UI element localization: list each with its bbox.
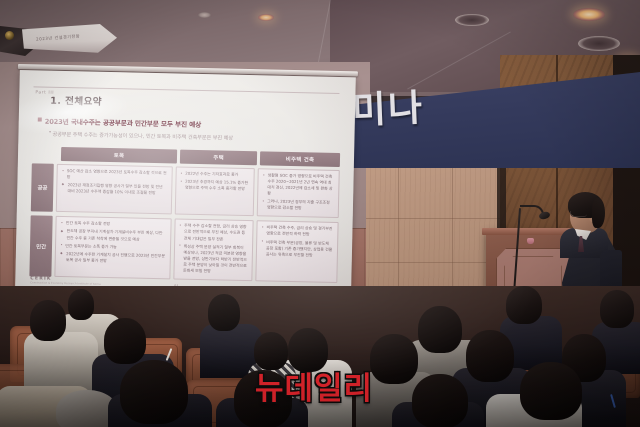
projector-lens-icon <box>5 31 14 40</box>
downlight-icon <box>455 14 489 26</box>
cell-bullet: 반도체 공장 부지내 기계설치·기계설비수주 부진 예상, 다만 민간 수주 중… <box>60 228 166 242</box>
cell-bullet: 2023년 추경까지 예상 15.1% 증가한 영향으로 주택 수주 소폭 증가… <box>180 178 250 192</box>
downlight-icon <box>198 12 211 18</box>
table-row: 공공 SOC 예산 감소 영향으로 2023년 토목수주 감소할 것으로 전망 … <box>31 163 340 218</box>
audience-member <box>24 332 98 392</box>
cell-bullet: 그러나, 2023년 정부의 지출 구조조정 영향으로 감소할 전망 <box>262 198 334 212</box>
slide-bullet-sub: 공공부문 주택 수주는 증가가능성이 있으나, 민간 토목과 비주택 건축부문은… <box>52 131 233 142</box>
audience-head <box>288 328 328 372</box>
podium-cup <box>527 238 534 244</box>
cell-bullet: 2022년 수주는 기저효과로 증가 <box>180 170 250 178</box>
travertine-joint <box>366 262 506 263</box>
audience-head <box>254 332 288 370</box>
audience-head <box>104 318 146 364</box>
screen-surface: Part III 1. 전체요약 2023년 국내수주는 공공부문과 민간부문 … <box>15 70 356 305</box>
cell-bullet: 2022년에 수주한 기계설치 공사 진행으로 2023년 민간부문 토목 공사… <box>60 251 166 265</box>
cell-bullet: 2023년 재정조기집행 영향 공사가 일부 있을 전망 및 전년 대비 202… <box>61 182 167 196</box>
downlight-icon <box>258 14 274 21</box>
downlight-icon <box>573 8 605 21</box>
table-col-header-civil: 토목 <box>61 147 177 163</box>
cell-bullet: 비주택 건축 부문(공장, 물류 및 반도체 공장 포함) 기존 증가했지만, … <box>261 239 333 259</box>
projection-screen: Part III 1. 전체요약 2023년 국내수주는 공공부문과 민간부문 … <box>13 64 358 313</box>
audience-head <box>30 300 66 341</box>
audience-head <box>418 306 462 353</box>
audience-head <box>520 362 582 420</box>
speaker-glasses-icon <box>570 211 587 217</box>
cell-bullet: 민간 토목부문는 소폭 증가 가능 <box>60 243 165 251</box>
table-cell: 비주택 건축 수주, 금리 상승 및 경기부진 영향으로 전반적 하락 전망 비… <box>255 220 338 283</box>
slide-bullet-main: 2023년 국내수주는 공공부문과 민간부문 모두 부진 예상 <box>45 116 202 129</box>
slide-footer-logo: CERIK Construction & Economy Research In… <box>30 276 101 286</box>
audience-head <box>466 330 514 382</box>
speaker-hair-back <box>592 198 605 228</box>
travertine-joint <box>366 218 506 219</box>
table-row-label-private: 민간 <box>29 216 53 277</box>
table-col-header-nonresidential: 비주택 건축 <box>260 151 340 166</box>
table-cell: 주택 수주 감소할 전망, 금리 상승 영향으로 전반적으로 부진 예상, 수도… <box>173 219 254 281</box>
cell-bullet: 특성상 주택 분양 실적기 일부 회복이 예상되나, 2023년 적금 미분양 … <box>178 243 248 275</box>
table-cell: 민간 토목 수주 감소할 전망 반도체 공장 부지내 기계설치·기계설비수주 부… <box>55 216 172 279</box>
audience-head <box>120 360 188 424</box>
cell-bullet: SOC 예산 감소 영향으로 2023년 토목수주 감소할 것으로 전망 <box>62 168 168 182</box>
slide-title: 1. 전체요약 <box>50 93 102 108</box>
slide-table: 토목 주택 비주택 건축 공공 SOC 예산 감소 영향으로 2023년 토목수… <box>29 146 340 287</box>
audience-head <box>370 334 418 384</box>
table-cell: 2022년 수주는 기저효과로 증가 2023년 추경까지 예상 15.1% 증… <box>174 166 254 216</box>
audience-head <box>68 289 94 320</box>
cell-bullet: 비주택 건축 수주, 금리 상승 및 경기부진 영향으로 전반적 하락 전망 <box>261 225 333 239</box>
seminar-photo: 2023년 건설경기전망 미나 Part III 1. 전체요약 2023년 국… <box>0 0 640 427</box>
banner-text: 미나 <box>351 89 424 129</box>
audience-head <box>208 294 240 331</box>
presentation-slide: Part III 1. 전체요약 2023년 국내수주는 공공부문과 민간부문 … <box>15 70 356 305</box>
cell-bullet: 생활형 SOC 증가 영향으로 비주택 건축수주 2020~2021년 2년 연… <box>262 172 334 198</box>
cell-bullet: 민간 토목 수주 감소할 전망 <box>61 220 166 228</box>
audience-head <box>600 290 634 328</box>
cell-bullet: 주택 수주 감소할 전망, 금리 상승 영향으로 전반적으로 부진 예상, 수도… <box>179 223 249 243</box>
ceiling-sign-text: 2023년 건설경기전망 <box>36 33 80 42</box>
table-row: 민간 민간 토목 수주 감소할 전망 반도체 공장 부지내 기계설치·기계설비수… <box>29 216 338 283</box>
table-col-header-housing: 주택 <box>180 150 257 165</box>
downlight-icon <box>578 36 620 51</box>
audience-head <box>412 374 468 427</box>
table-cell: SOC 예산 감소 영향으로 2023년 토목수주 감소할 것으로 전망 202… <box>56 163 172 214</box>
watermark-logo: 뉴데일리 <box>255 374 373 405</box>
table-row-label-public: 공공 <box>31 163 54 212</box>
audience-head <box>506 286 542 324</box>
table-cell: 생활형 SOC 증가 영향으로 비주택 건축수주 2020~2021년 2년 연… <box>257 168 340 218</box>
